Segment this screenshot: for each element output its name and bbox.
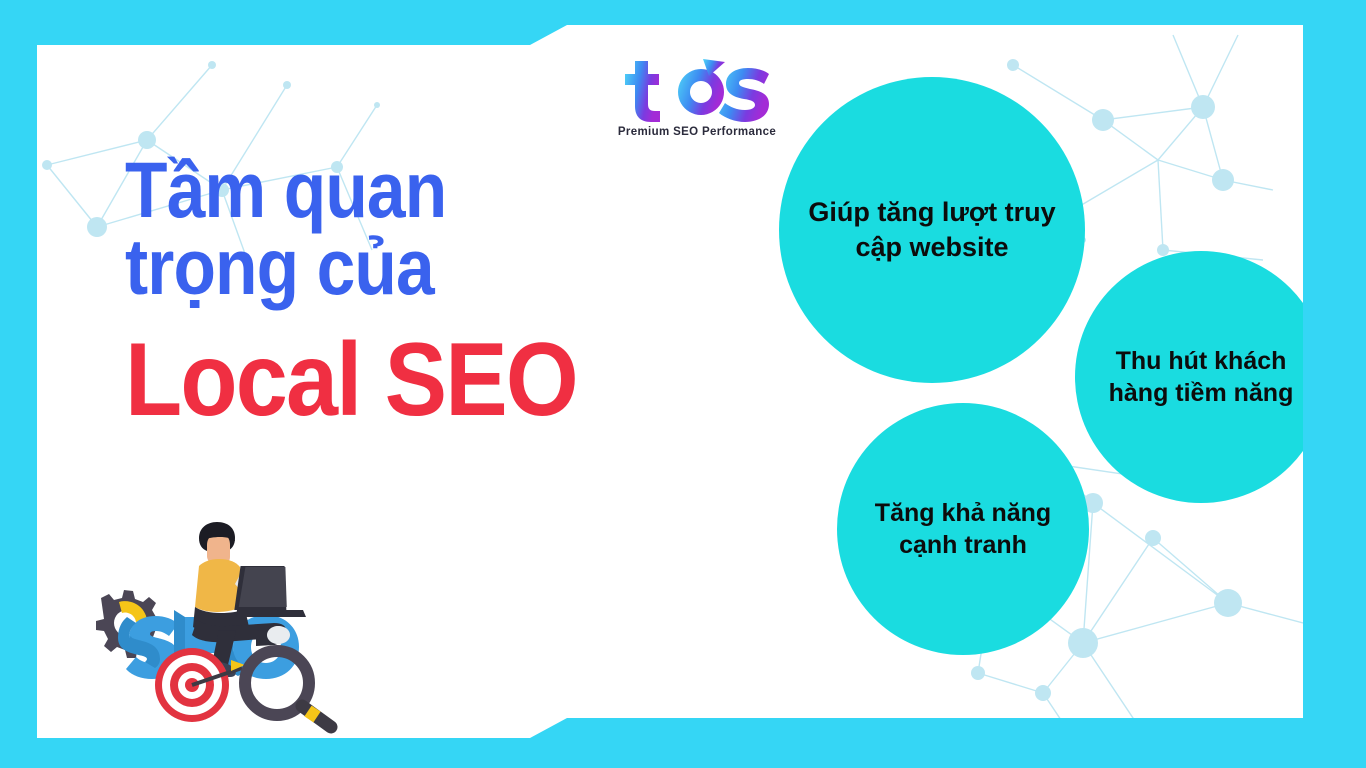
headline-subtitle-line-1: Tầm quan [125, 151, 547, 228]
tos-logo-icon [617, 55, 777, 125]
benefit-bubble-competition: Tăng khả năng cạnh tranh [837, 403, 1089, 655]
headline-block: Tầm quan trọng của Local SEO [125, 151, 605, 432]
benefit-bubble-customers: Thu hút khách hàng tiềm năng [1075, 251, 1327, 503]
seo-3d-illustration [59, 520, 369, 735]
headline-main: Local SEO [125, 328, 557, 432]
content-card: Premium SEO Performance Tầm quan trọng c… [37, 25, 1303, 743]
benefit-bubble-competition-label: Tăng khả năng cạnh tranh [837, 497, 1089, 561]
poster-canvas: Premium SEO Performance Tầm quan trọng c… [0, 0, 1366, 768]
benefit-bubble-traffic: Giúp tăng lượt truy cập website [779, 77, 1085, 383]
headline-subtitle-line-2: trọng của [125, 228, 547, 305]
benefit-bubble-customers-label: Thu hút khách hàng tiềm năng [1075, 345, 1327, 409]
headline-subtitle: Tầm quan trọng của [125, 151, 547, 306]
brand-logo: Premium SEO Performance [607, 55, 787, 138]
benefit-bubble-traffic-label: Giúp tăng lượt truy cập website [779, 195, 1085, 264]
logo-tagline: Premium SEO Performance [607, 126, 787, 138]
